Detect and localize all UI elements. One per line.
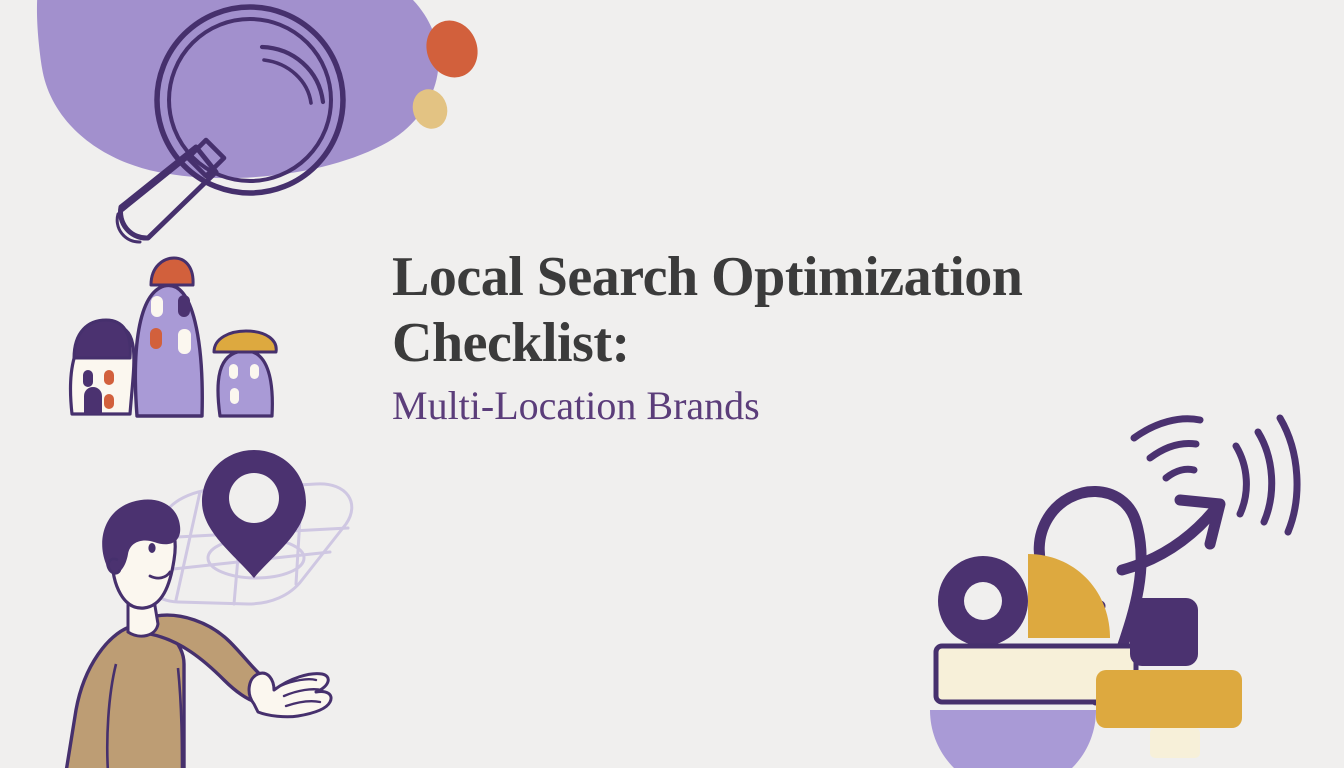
gold-bar — [1096, 670, 1242, 728]
tall-purple-building — [135, 258, 202, 416]
shape-cluster-right — [1096, 598, 1242, 758]
poster-canvas: Local Search Optimization Checklist: Mul… — [0, 0, 1344, 768]
magnifier-connector — [188, 140, 224, 176]
cream-bar — [936, 646, 1136, 702]
lens-highlight — [262, 47, 323, 103]
magnifier-handle — [117, 147, 216, 242]
purple-donut — [938, 556, 1028, 646]
person-figure — [66, 499, 331, 768]
person-arm — [150, 615, 264, 702]
person-hand — [249, 673, 331, 717]
magnifier-lens — [157, 7, 343, 193]
signal-arcs — [1134, 418, 1297, 532]
magnifier-illustration — [28, 0, 508, 250]
cream-stub — [1150, 728, 1200, 758]
map-grid — [150, 484, 352, 604]
loop-arrow — [1039, 491, 1220, 700]
person-face — [112, 514, 175, 608]
short-purple-building — [214, 331, 276, 416]
purple-square — [1130, 598, 1198, 666]
location-pin — [202, 450, 306, 578]
person-hair — [102, 499, 180, 574]
heading-block: Local Search Optimization Checklist: Mul… — [392, 244, 1212, 430]
small-cream-building — [71, 320, 134, 414]
lavender-half-circle — [930, 710, 1096, 768]
lavender-blob — [37, 0, 439, 178]
person-sweater — [66, 624, 184, 768]
tan-dot — [408, 85, 453, 134]
map-person-illustration — [58, 428, 388, 768]
gold-quarter-circle — [1028, 554, 1110, 638]
page-subtitle: Multi-Location Brands — [392, 382, 1212, 430]
buildings-illustration — [52, 254, 308, 426]
shape-cluster-left — [930, 554, 1136, 768]
page-title: Local Search Optimization Checklist: — [392, 244, 1212, 376]
orange-dot — [418, 13, 486, 86]
